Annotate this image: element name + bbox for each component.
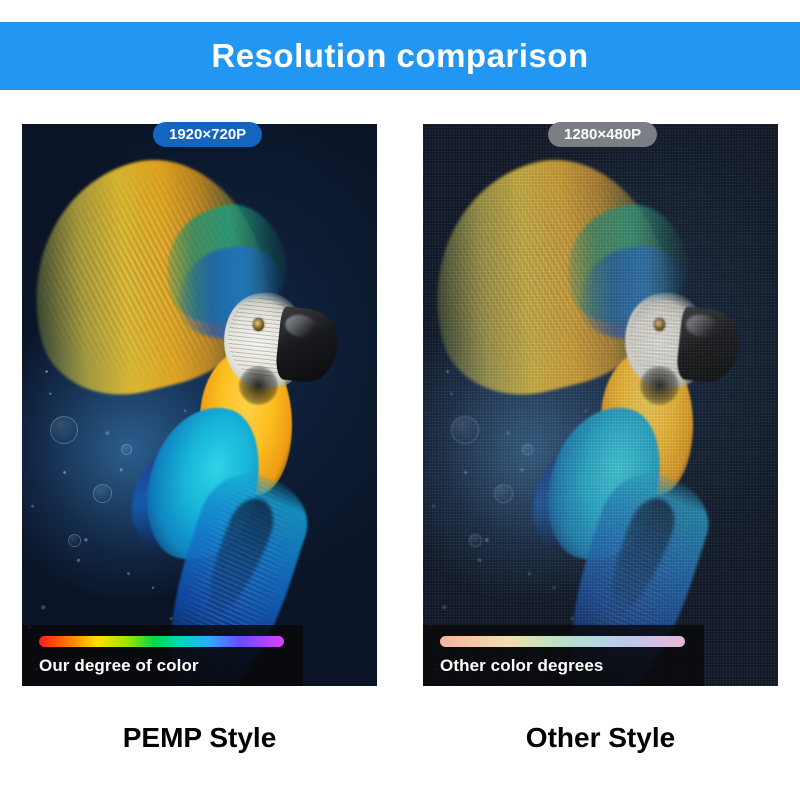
header-banner: Resolution comparison xyxy=(0,22,800,90)
color-gamut-card-left: Our degree of color xyxy=(22,625,303,686)
resolution-badge-label: 1920×720P xyxy=(169,126,246,143)
style-caption-left: PEMP Style xyxy=(22,722,377,754)
color-gradient-caption: Other color degrees xyxy=(440,656,603,676)
bubble-icon xyxy=(93,484,112,503)
style-caption-right: Other Style xyxy=(423,722,778,754)
parrot-image-right xyxy=(423,124,778,686)
bubble-icon xyxy=(494,484,513,503)
color-gradient-caption: Our degree of color xyxy=(39,656,199,676)
parrot-image-left xyxy=(22,124,377,686)
color-gradient-bar-full xyxy=(39,636,284,647)
page-title: Resolution comparison xyxy=(211,37,588,75)
resolution-badge-left: 1920×720P xyxy=(153,122,262,147)
resolution-badge-right: 1280×480P xyxy=(548,122,657,147)
resolution-comparison-page: Resolution comparison xyxy=(0,0,800,800)
color-gradient-bar-washed xyxy=(440,636,685,647)
resolution-badge-label: 1280×480P xyxy=(564,126,641,143)
comparison-panel-right: Other color degrees xyxy=(423,124,778,686)
color-gamut-card-right: Other color degrees xyxy=(423,625,704,686)
comparison-panel-left: Our degree of color xyxy=(22,124,377,686)
